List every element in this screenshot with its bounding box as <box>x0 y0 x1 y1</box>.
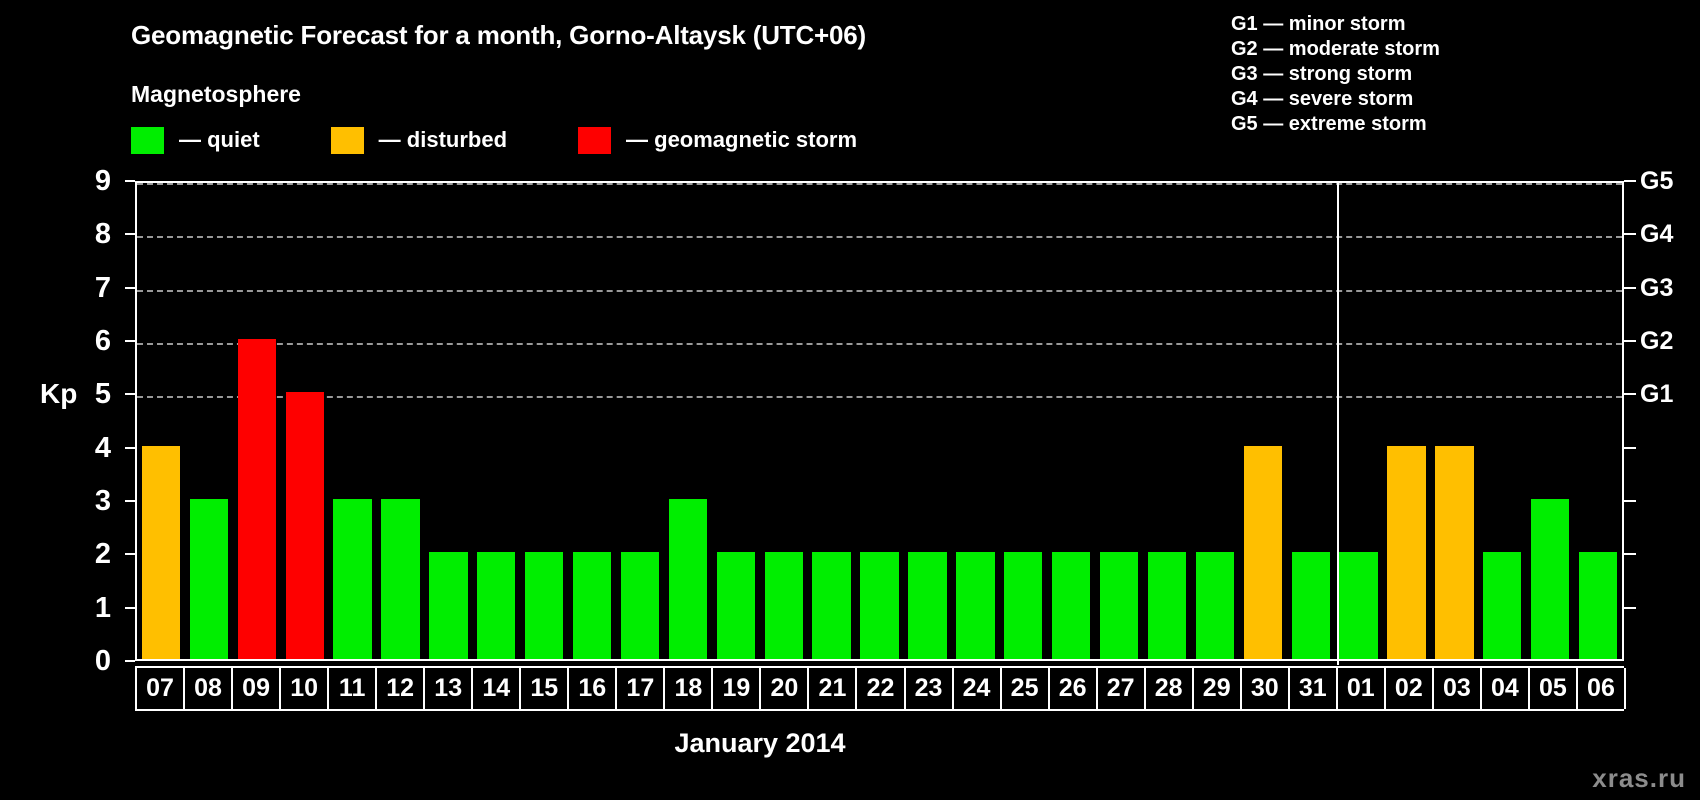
y-tick-label-5: 5 <box>77 380 111 409</box>
chart-subtitle: Magnetosphere <box>131 81 301 108</box>
bar-slot <box>999 183 1047 659</box>
day-label-07[interactable]: 07 <box>135 668 185 709</box>
day-label-31[interactable]: 31 <box>1288 668 1338 709</box>
day-label-04[interactable]: 04 <box>1480 668 1530 709</box>
bar-day-20[interactable] <box>765 552 803 659</box>
bar-day-11[interactable] <box>333 499 371 659</box>
x-axis-title: January 2014 <box>0 728 1700 759</box>
g-minor-tick-2 <box>1624 553 1636 555</box>
y-tick-label-8: 8 <box>77 220 111 249</box>
legend-swatch-quiet <box>131 127 164 154</box>
bar-slot <box>712 183 760 659</box>
g-tick-mark-G5 <box>1624 180 1636 182</box>
y-tick-label-7: 7 <box>77 274 111 303</box>
page-title: Geomagnetic Forecast for a month, Gorno-… <box>131 20 866 51</box>
bar-day-26[interactable] <box>1052 552 1090 659</box>
bar-day-08[interactable] <box>190 499 228 659</box>
bar-day-25[interactable] <box>1004 552 1042 659</box>
day-label-22[interactable]: 22 <box>855 668 905 709</box>
bar-slot <box>1526 183 1574 659</box>
bar-slot <box>424 183 472 659</box>
bar-slot <box>951 183 999 659</box>
gscale-description-2: G2 — moderate storm <box>1231 37 1440 62</box>
day-label-08[interactable]: 08 <box>183 668 233 709</box>
legend-label-quiet: — quiet <box>179 127 260 153</box>
g-tick-mark-G3 <box>1624 287 1636 289</box>
bar-slot <box>760 183 808 659</box>
bar-slot <box>808 183 856 659</box>
day-label-02[interactable]: 02 <box>1384 668 1434 709</box>
gscale-legend: G1 — minor stormG2 — moderate stormG3 — … <box>1231 12 1440 137</box>
bar-day-06[interactable] <box>1579 552 1617 659</box>
day-label-23[interactable]: 23 <box>904 668 954 709</box>
g-tick-mark-G1 <box>1624 393 1636 395</box>
day-label-27[interactable]: 27 <box>1096 668 1146 709</box>
bar-day-29[interactable] <box>1196 552 1234 659</box>
y-tick-mark-4 <box>125 447 135 449</box>
y-tick-label-2: 2 <box>77 540 111 569</box>
y-tick-label-3: 3 <box>77 487 111 516</box>
bars-container <box>137 183 1622 659</box>
legend-item-quiet: — quiet <box>131 127 260 154</box>
bar-slot <box>520 183 568 659</box>
bar-slot <box>1239 183 1287 659</box>
bar-day-19[interactable] <box>717 552 755 659</box>
bar-slot <box>1335 183 1383 659</box>
day-label-30[interactable]: 30 <box>1240 668 1290 709</box>
bar-slot <box>1430 183 1478 659</box>
bar-day-04[interactable] <box>1483 552 1521 659</box>
gscale-description-5: G5 — extreme storm <box>1231 112 1440 137</box>
y-tick-mark-0 <box>125 660 135 662</box>
bar-day-30[interactable] <box>1244 446 1282 659</box>
magnetosphere-legend: — quiet— disturbed— geomagnetic storm <box>131 126 857 154</box>
day-label-12[interactable]: 12 <box>375 668 425 709</box>
legend-item-storm: — geomagnetic storm <box>578 127 857 154</box>
bar-day-09[interactable] <box>238 339 276 659</box>
y-tick-mark-6 <box>125 340 135 342</box>
g-tick-mark-G4 <box>1624 233 1636 235</box>
y-tick-mark-7 <box>125 287 135 289</box>
bar-day-31[interactable] <box>1292 552 1330 659</box>
plot-area <box>135 181 1624 661</box>
bar-slot <box>472 183 520 659</box>
legend-label-disturbed: — disturbed <box>379 127 507 153</box>
day-label-05[interactable]: 05 <box>1528 668 1578 709</box>
y-tick-label-6: 6 <box>77 327 111 356</box>
bar-day-13[interactable] <box>429 552 467 659</box>
g-minor-tick-1 <box>1624 607 1636 609</box>
bar-day-17[interactable] <box>621 552 659 659</box>
y-tick-mark-1 <box>125 607 135 609</box>
day-label-20[interactable]: 20 <box>759 668 809 709</box>
g-minor-tick-4 <box>1624 447 1636 449</box>
legend-swatch-disturbed <box>331 127 364 154</box>
g-tick-label-G2: G2 <box>1640 329 1673 354</box>
bar-slot <box>137 183 185 659</box>
bar-day-02[interactable] <box>1387 446 1425 659</box>
legend-item-disturbed: — disturbed <box>331 127 507 154</box>
day-label-21[interactable]: 21 <box>807 668 857 709</box>
day-label-03[interactable]: 03 <box>1432 668 1482 709</box>
day-label-17[interactable]: 17 <box>615 668 665 709</box>
day-label-14[interactable]: 14 <box>471 668 521 709</box>
bar-day-03[interactable] <box>1435 446 1473 659</box>
day-label-15[interactable]: 15 <box>519 668 569 709</box>
bar-slot <box>664 183 712 659</box>
bar-day-05[interactable] <box>1531 499 1569 659</box>
bar-slot <box>233 183 281 659</box>
y-tick-mark-8 <box>125 233 135 235</box>
day-label-26[interactable]: 26 <box>1048 668 1098 709</box>
bar-slot <box>1383 183 1431 659</box>
day-label-09[interactable]: 09 <box>231 668 281 709</box>
g-tick-label-G5: G5 <box>1640 169 1673 194</box>
gscale-description-1: G1 — minor storm <box>1231 12 1440 37</box>
bar-slot <box>1047 183 1095 659</box>
x-axis-day-labels: 0708091011121314151617181920212223242526… <box>135 666 1624 711</box>
bar-day-15[interactable] <box>525 552 563 659</box>
g-tick-mark-G2 <box>1624 340 1636 342</box>
y-axis-title: Kp <box>40 378 77 410</box>
y-tick-label-0: 0 <box>77 647 111 676</box>
g-tick-label-G3: G3 <box>1640 276 1673 301</box>
bar-slot <box>1287 183 1335 659</box>
y-tick-label-4: 4 <box>77 434 111 463</box>
day-label-25[interactable]: 25 <box>1000 668 1050 709</box>
bar-slot <box>856 183 904 659</box>
y-tick-mark-3 <box>125 500 135 502</box>
day-label-28[interactable]: 28 <box>1144 668 1194 709</box>
bar-slot <box>377 183 425 659</box>
gscale-description-4: G4 — severe storm <box>1231 87 1440 112</box>
g-tick-label-G4: G4 <box>1640 222 1673 247</box>
g-minor-tick-3 <box>1624 500 1636 502</box>
bar-slot <box>281 183 329 659</box>
day-label-18[interactable]: 18 <box>663 668 713 709</box>
day-label-06[interactable]: 06 <box>1576 668 1626 709</box>
forecast-divider-line <box>1337 181 1339 665</box>
bar-day-24[interactable] <box>956 552 994 659</box>
bar-day-21[interactable] <box>812 552 850 659</box>
bar-slot <box>1574 183 1622 659</box>
bar-day-23[interactable] <box>908 552 946 659</box>
bar-day-28[interactable] <box>1148 552 1186 659</box>
watermark: xras.ru <box>1592 763 1686 794</box>
day-label-16[interactable]: 16 <box>567 668 617 709</box>
bar-slot <box>904 183 952 659</box>
bar-day-12[interactable] <box>381 499 419 659</box>
geomagnetic-forecast-chart: Geomagnetic Forecast for a month, Gorno-… <box>0 0 1700 800</box>
bar-slot <box>1095 183 1143 659</box>
bar-day-27[interactable] <box>1100 552 1138 659</box>
gscale-description-3: G3 — strong storm <box>1231 62 1440 87</box>
bar-day-16[interactable] <box>573 552 611 659</box>
y-tick-mark-2 <box>125 553 135 555</box>
bar-slot <box>568 183 616 659</box>
legend-swatch-storm <box>578 127 611 154</box>
bar-day-10[interactable] <box>286 392 324 659</box>
bar-day-14[interactable] <box>477 552 515 659</box>
bar-day-22[interactable] <box>860 552 898 659</box>
y-tick-mark-5 <box>125 393 135 395</box>
y-tick-label-9: 9 <box>77 167 111 196</box>
bar-slot <box>1478 183 1526 659</box>
bar-slot <box>616 183 664 659</box>
day-label-01[interactable]: 01 <box>1336 668 1386 709</box>
g-tick-label-G1: G1 <box>1640 382 1673 407</box>
bar-day-01[interactable] <box>1339 552 1377 659</box>
day-label-29[interactable]: 29 <box>1192 668 1242 709</box>
bar-day-18[interactable] <box>669 499 707 659</box>
day-label-10[interactable]: 10 <box>279 668 329 709</box>
bar-slot <box>1191 183 1239 659</box>
bar-slot <box>329 183 377 659</box>
bar-slot <box>185 183 233 659</box>
day-label-24[interactable]: 24 <box>952 668 1002 709</box>
day-label-13[interactable]: 13 <box>423 668 473 709</box>
bar-day-07[interactable] <box>142 446 180 659</box>
y-tick-mark-9 <box>125 180 135 182</box>
legend-label-storm: — geomagnetic storm <box>626 127 857 153</box>
bar-slot <box>1143 183 1191 659</box>
day-label-19[interactable]: 19 <box>711 668 761 709</box>
day-label-11[interactable]: 11 <box>327 668 377 709</box>
y-tick-label-1: 1 <box>77 594 111 623</box>
